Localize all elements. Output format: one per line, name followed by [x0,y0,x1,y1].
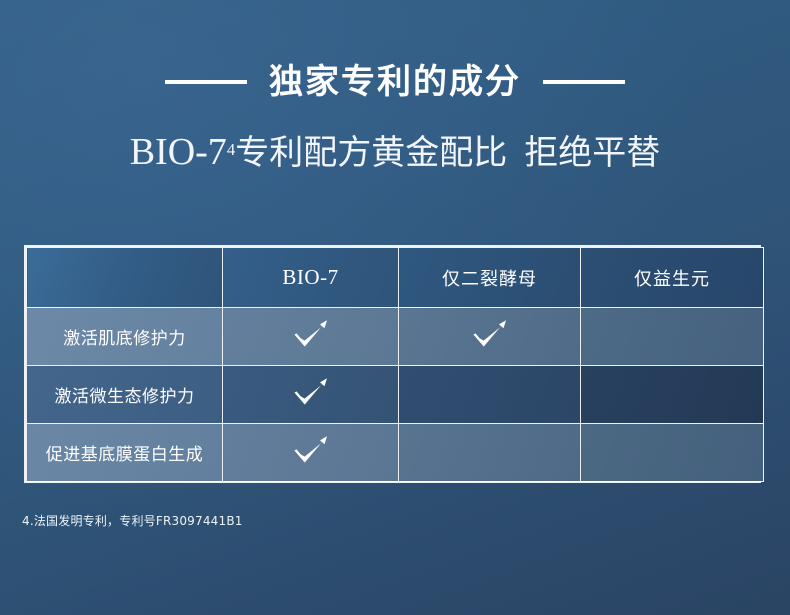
cell-r2-bio7 [223,366,399,424]
subtitle-latin: BIO-7 [130,131,227,173]
page-subtitle: BIO-74专利配方黄金配比拒绝平替 [0,133,790,171]
title-rule-right-icon [543,80,625,84]
footnote: 4.法国发明专利，专利号FR3097441B1 [22,512,243,529]
row-label-cell: 激活肌底修护力 [27,308,223,366]
cell-r1-bifida [399,308,581,366]
row-label-1: 激活肌底修护力 [63,329,186,349]
row-label-3: 促进基底膜蛋白生成 [46,445,204,465]
comparison-table: BIO-7 仅二裂酵母 仅益生元 激活肌底修护力 [26,247,764,482]
table-header-blank [27,248,223,308]
comparison-table-wrapper: BIO-7 仅二裂酵母 仅益生元 激活肌底修护力 [24,245,761,483]
table-row: 激活微生态修护力 [27,366,764,424]
cell-r1-prebiotic [581,308,764,366]
cell-r3-prebiotic [581,424,764,482]
cell-r3-bio7 [223,424,399,482]
table-header-bifida: 仅二裂酵母 [399,248,581,308]
cell-r2-prebiotic [581,366,764,424]
table-header-prebiotic: 仅益生元 [581,248,764,308]
table-header-row: BIO-7 仅二裂酵母 仅益生元 [27,248,764,308]
promo-page: 独家专利的成分 BIO-74专利配方黄金配比拒绝平替 BIO-7 仅二 [0,0,790,615]
check-icon [291,317,331,351]
table-row: 促进基底膜蛋白生成 [27,424,764,482]
subtitle-cn-primary: 专利配方黄金配比 [235,133,507,173]
check-icon [470,317,510,351]
table-row: 激活肌底修护力 [27,308,764,366]
section-title-row: 独家专利的成分 [0,54,790,110]
table-header-bifida-label: 仅二裂酵母 [442,269,537,290]
page-title: 独家专利的成分 [269,65,521,99]
table-header-bio7: BIO-7 [223,248,399,308]
row-label-2: 激活微生态修护力 [55,387,195,407]
table-header-bio7-label: BIO-7 [282,265,338,289]
row-label-cell: 激活微生态修护力 [27,366,223,424]
subtitle-cn-secondary: 拒绝平替 [524,133,660,173]
cell-r1-bio7 [223,308,399,366]
table-header-prebiotic-label: 仅益生元 [634,269,710,290]
cell-r2-bifida [399,366,581,424]
check-icon [291,433,331,467]
row-label-cell: 促进基底膜蛋白生成 [27,424,223,482]
subtitle-superscript: 4 [227,140,236,159]
check-icon [291,375,331,409]
cell-r3-bifida [399,424,581,482]
title-rule-left-icon [165,80,247,84]
